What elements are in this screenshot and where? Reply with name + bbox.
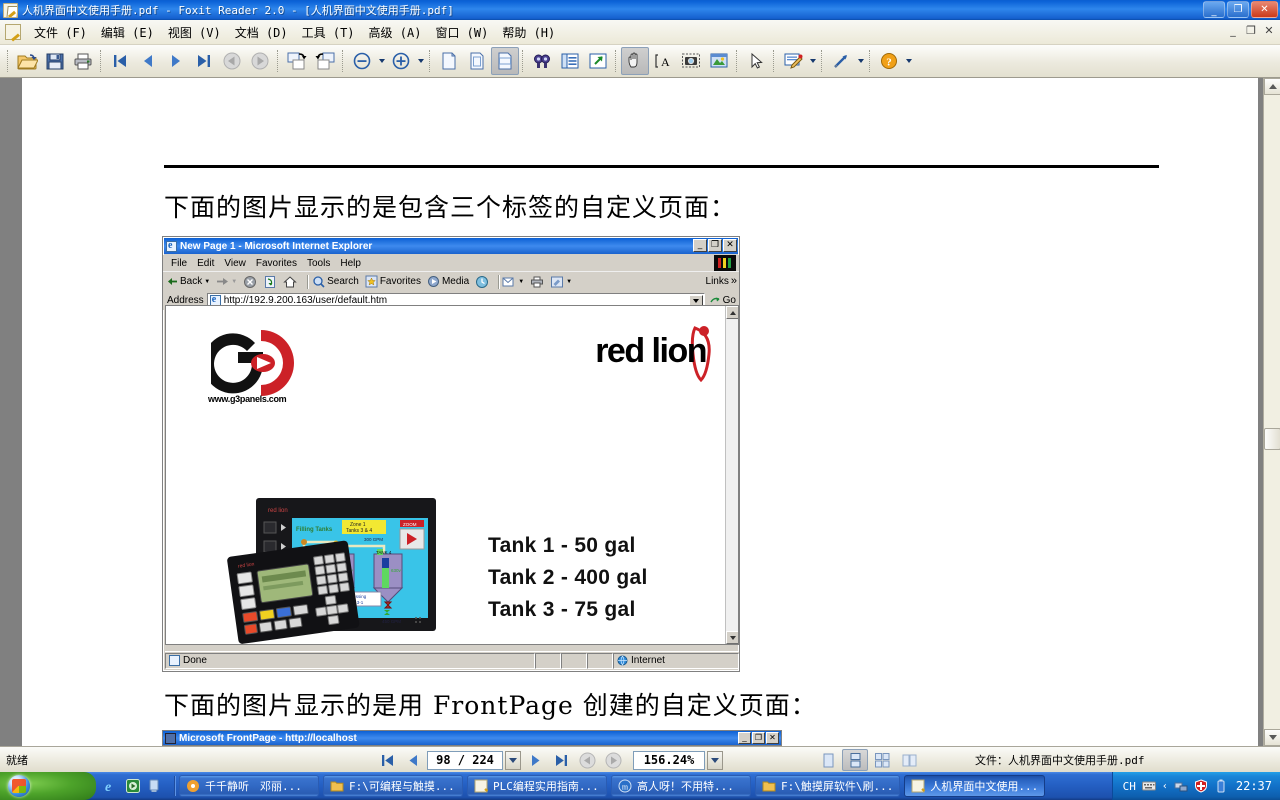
ie-page-content: www.g3panels.com red lion: [165, 305, 739, 645]
hand-tool-icon[interactable]: [621, 47, 649, 75]
rotate-counterclockwise-icon[interactable]: [311, 47, 339, 75]
ie-status-bar: Done Internet: [165, 651, 739, 669]
close-icon: ✕: [1252, 3, 1277, 17]
view-mode-group: [815, 749, 922, 771]
foxit-icon: [474, 779, 488, 793]
internet-explorer-icon[interactable]: e: [104, 778, 120, 794]
ie-title-bar: New Page 1 - Microsoft Internet Explorer…: [164, 238, 738, 254]
actual-size-icon[interactable]: [435, 47, 463, 75]
ie-links-bar[interactable]: Links »: [706, 275, 737, 287]
svg-text:300 GPM: 300 GPM: [364, 537, 383, 542]
ttplayer-icon: [186, 779, 200, 793]
ie-search-button[interactable]: Search: [312, 275, 359, 288]
hmi-product-photo: red lion Zone 1 Ta: [224, 496, 444, 645]
scroll-down-icon[interactable]: [1264, 729, 1280, 746]
svg-text:ZOOM: ZOOM: [403, 522, 417, 527]
ie-search-label: Search: [327, 276, 359, 287]
scroll-down-icon[interactable]: [726, 631, 739, 644]
ie-stop-button[interactable]: [243, 275, 257, 289]
first-page-icon[interactable]: [106, 47, 134, 75]
rotate-clockwise-icon[interactable]: [283, 47, 311, 75]
ie-back-dropdown-icon[interactable]: ▼: [204, 279, 210, 285]
status-file-label: 文件：人机界面中文使用手册.pdf: [975, 752, 1145, 768]
ie-status-cell-c: [587, 653, 613, 669]
keyboard-icon[interactable]: [1142, 779, 1156, 793]
menu-bar: 文件 (F) 编辑 (E) 视图 (V) 文档 (D) 工具 (T) 高级 (A…: [0, 20, 1280, 45]
network-icon[interactable]: [1174, 779, 1188, 793]
ie-links-label: Links: [706, 276, 729, 287]
taskbar-item-browser[interactable]: m 高人呀！不用特...: [611, 775, 751, 797]
toolbar-separator: [7, 50, 10, 72]
ie-media-button[interactable]: Media: [427, 275, 469, 288]
go-back-icon[interactable]: [575, 749, 599, 771]
horizontal-rule: [164, 165, 1159, 168]
frontpage-window-controls: _ ❐ ✕: [738, 732, 779, 744]
help-dropdown-icon[interactable]: [903, 48, 914, 74]
title-bar: 人机界面中文使用手册.pdf - Foxit Reader 2.0 - [人机界…: [0, 0, 1280, 20]
paragraph-line-2: 下面的图片显示的是用 FrontPage 创建的自定义页面：: [164, 686, 817, 722]
ie-menu-edit[interactable]: Edit: [197, 258, 214, 269]
globe-icon: [617, 655, 628, 666]
g3panels-url-text: www.g3panels.com: [208, 394, 286, 404]
taskbar-item-foxit-manual[interactable]: 人机界面中文使用...: [904, 775, 1045, 797]
commenting-icon[interactable]: [779, 47, 807, 75]
svg-text:e: e: [105, 780, 111, 794]
svg-text:red lion: red lion: [268, 508, 288, 514]
frontpage-window-title: Microsoft FrontPage - http://localhost: [179, 733, 357, 744]
menu-advanced[interactable]: 高级 (A): [362, 21, 429, 44]
bookmarks-icon[interactable]: [556, 47, 584, 75]
svg-text:630v: 630v: [391, 568, 402, 573]
ie-window-title: New Page 1 - Microsoft Internet Explorer: [180, 241, 372, 252]
frontpage-close-button[interactable]: ✕: [766, 732, 779, 744]
folder-icon: [330, 779, 344, 793]
single-page-icon[interactable]: [815, 749, 841, 771]
foxit-reader-window: 人机界面中文使用手册.pdf - Foxit Reader 2.0 - [人机界…: [0, 0, 1280, 800]
chevron-left-icon[interactable]: ‹: [1162, 781, 1168, 792]
frontpage-maximize-button[interactable]: ❐: [752, 732, 765, 744]
ie-forward-dropdown-icon[interactable]: ▼: [231, 279, 237, 285]
image-tool-icon[interactable]: [705, 47, 733, 75]
status-ready-text: 就绪: [6, 752, 28, 768]
ie-minimize-button[interactable]: _: [693, 239, 707, 252]
ie-status-cell-a: [535, 653, 561, 669]
frontpage-window-screenshot: Microsoft FrontPage - http://localhost _…: [162, 730, 782, 746]
first-page-icon[interactable]: [375, 749, 399, 771]
foxit-icon: [911, 779, 925, 793]
ime-indicator[interactable]: CH: [1123, 780, 1136, 793]
ie-close-button[interactable]: ✕: [723, 239, 737, 252]
ie-security-zone-cell: Internet: [613, 653, 739, 669]
go-forward-icon[interactable]: [601, 749, 625, 771]
taskbar-label: 高人呀！不用特...: [637, 778, 734, 794]
page-icon: [169, 655, 180, 666]
quick-launch-bar: e: [96, 778, 170, 794]
ie-maximize-button[interactable]: ❐: [708, 239, 722, 252]
tank-readings: Tank 1 - 50 gal Tank 2 - 400 gal Tank 3 …: [488, 530, 648, 626]
ie-menu-file[interactable]: File: [171, 258, 187, 269]
svg-text:?: ?: [886, 57, 892, 69]
previous-page-icon[interactable]: [134, 47, 162, 75]
maximize-button[interactable]: ❐: [1227, 1, 1249, 18]
ie-edit-dropdown-icon[interactable]: ▼: [566, 279, 572, 285]
taskbar-item-plc-guide[interactable]: PLC编程实用指南...: [467, 775, 607, 797]
tank-reading-3: Tank 3 - 75 gal: [488, 594, 648, 626]
ie-animated-logo-icon: [714, 255, 736, 271]
mdi-window-controls: _ ❐ ✕: [1226, 24, 1276, 37]
next-page-icon[interactable]: [162, 47, 190, 75]
ie-mail-button[interactable]: ▼: [502, 276, 524, 288]
last-page-icon[interactable]: [190, 47, 218, 75]
toolbar-separator: [342, 50, 345, 72]
svg-text:Filling Tanks: Filling Tanks: [296, 527, 333, 533]
tank-reading-1: Tank 1 - 50 gal: [488, 530, 648, 562]
taskbar-label: 人机界面中文使用...: [930, 778, 1038, 794]
minimize-button[interactable]: _: [1203, 1, 1225, 18]
shield-icon[interactable]: [1194, 779, 1208, 793]
ie-edit-button[interactable]: ▼: [550, 276, 572, 288]
red-lion-wordmark: red lion: [595, 332, 706, 371]
page-number-input[interactable]: 98 / 224: [427, 751, 503, 770]
print-icon[interactable]: [69, 47, 97, 75]
taskbar-label: 千千静听 邓丽...: [205, 778, 302, 794]
previous-page-icon[interactable]: [401, 749, 425, 771]
select-object-icon[interactable]: [742, 47, 770, 75]
open-icon[interactable]: [13, 47, 41, 75]
system-tray: CH ‹ 22:37: [1112, 772, 1280, 800]
battery-icon[interactable]: [1214, 779, 1228, 793]
window-title: 人机界面中文使用手册.pdf - Foxit Reader 2.0 - [人机界…: [22, 2, 454, 18]
ie-status-text: Done: [183, 655, 207, 666]
menu-tools[interactable]: 工具 (T): [295, 21, 362, 44]
pdf-page: 下面的图片显示的是包含三个标签的自定义页面： New Page 1 - Micr…: [22, 78, 1258, 746]
ie-status-cell-b: [561, 653, 587, 669]
tank-reading-2: Tank 2 - 400 gal: [488, 562, 648, 594]
windows-taskbar: e 千千静听 邓丽... F:\可编程与触摸... PLC编程实用指南... m…: [0, 772, 1280, 800]
ie-menu-tools[interactable]: Tools: [307, 258, 330, 269]
window-controls: _ ❐ ✕: [1203, 1, 1278, 18]
taskbar-separator: [174, 776, 175, 796]
ie-page-scrollbar[interactable]: [725, 306, 738, 644]
ie-window-controls: _ ❐ ✕: [693, 239, 737, 252]
save-icon[interactable]: [41, 47, 69, 75]
svg-text:TANK 4: TANK 4: [376, 550, 392, 555]
red-lion-logo: red lion: [595, 332, 706, 371]
ie-refresh-button[interactable]: [263, 275, 277, 289]
toolbar-separator: [736, 50, 739, 72]
internet-explorer-icon: [166, 241, 177, 252]
toolbar-separator: [615, 50, 618, 72]
ie-menu-bar: File Edit View Favorites Tools Help: [163, 255, 739, 271]
status-bar: 就绪 98 / 224 156.24%: [0, 746, 1280, 772]
foxit-icon: [3, 3, 18, 18]
main-toolbar: A: [0, 45, 1280, 78]
show-desktop-icon[interactable]: [146, 778, 162, 794]
g3panels-logo: [211, 324, 316, 402]
ie-media-label: Media: [442, 276, 469, 287]
document-vertical-scrollbar[interactable]: [1263, 78, 1280, 746]
maximize-icon: ❐: [1228, 3, 1248, 17]
zoom-in-icon[interactable]: [387, 47, 415, 75]
help-icon[interactable]: ?: [875, 47, 903, 75]
mdi-restore-icon[interactable]: ❐: [1244, 24, 1258, 37]
ie-window-screenshot: New Page 1 - Microsoft Internet Explorer…: [162, 236, 740, 672]
svg-text:A: A: [661, 55, 670, 69]
document-icon: [5, 24, 21, 40]
ie-menu-help[interactable]: Help: [340, 258, 361, 269]
svg-text:450 GPM: 450 GPM: [382, 619, 401, 624]
folder-icon: [762, 779, 776, 793]
document-view[interactable]: 下面的图片显示的是包含三个标签的自定义页面： New Page 1 - Micr…: [0, 78, 1280, 746]
menu-document[interactable]: 文档 (D): [228, 21, 295, 44]
menu-file[interactable]: 文件 (F): [27, 21, 94, 44]
zoom-in-dropdown-icon[interactable]: [415, 48, 426, 74]
paragraph-line-1: 下面的图片显示的是包含三个标签的自定义页面：: [164, 188, 736, 224]
zoom-out-icon[interactable]: [348, 47, 376, 75]
toolbar-separator: [869, 50, 872, 72]
go-forward-icon[interactable]: [246, 47, 274, 75]
ie-back-button[interactable]: Back ▼: [167, 276, 210, 287]
taskbar-label: F:\触摸屏软件\刷...: [781, 778, 893, 794]
taskbar-label: F:\可编程与触摸...: [349, 778, 455, 794]
facing-icon[interactable]: [869, 749, 895, 771]
find-icon[interactable]: [528, 47, 556, 75]
media-player-icon[interactable]: [125, 778, 141, 794]
snapshot-icon[interactable]: [677, 47, 705, 75]
toolbar-separator: [821, 50, 824, 72]
last-page-icon[interactable]: [549, 749, 573, 771]
toolbar-separator: [100, 50, 103, 72]
browser-icon: m: [618, 779, 632, 793]
ie-security-zone-text: Internet: [631, 655, 665, 666]
svg-text:Tanks 3 & 4: Tanks 3 & 4: [346, 528, 372, 534]
page-dropdown-icon[interactable]: [505, 751, 521, 770]
scroll-up-icon[interactable]: [726, 306, 739, 319]
frontpage-minimize-button[interactable]: _: [738, 732, 751, 744]
toolbar-separator: [277, 50, 280, 72]
ie-mail-dropdown-icon[interactable]: ▼: [518, 279, 524, 285]
toolbar-separator: [522, 50, 525, 72]
minimize-icon: _: [1204, 5, 1224, 19]
menu-window[interactable]: 窗口 (W): [428, 21, 495, 44]
zoom-out-dropdown-icon[interactable]: [376, 48, 387, 74]
ie-favorites-button[interactable]: Favorites: [365, 275, 421, 288]
zoom-level-input[interactable]: 156.24%: [633, 751, 705, 770]
select-text-icon[interactable]: A: [649, 47, 677, 75]
scroll-up-icon[interactable]: [1264, 78, 1280, 95]
ie-status-text-cell: Done: [165, 653, 535, 669]
svg-text:m: m: [622, 783, 629, 792]
page-navigation-group: 98 / 224 156.24%: [375, 749, 723, 771]
ie-print-button[interactable]: [530, 276, 544, 288]
chevron-double-right-icon[interactable]: »: [731, 275, 737, 287]
commenting-dropdown-icon[interactable]: [807, 48, 818, 74]
windows-logo-icon: [8, 775, 30, 797]
taskbar-item-folder-2[interactable]: F:\触摸屏软件\刷...: [755, 775, 900, 797]
taskbar-item-folder-1[interactable]: F:\可编程与触摸...: [323, 775, 463, 797]
mdi-close-icon[interactable]: ✕: [1262, 24, 1276, 37]
zoom-dropdown-icon[interactable]: [707, 751, 723, 770]
close-button[interactable]: ✕: [1251, 1, 1278, 18]
toolbar-separator: [429, 50, 432, 72]
ie-forward-button[interactable]: ▼: [216, 276, 237, 287]
link-icon[interactable]: [584, 47, 612, 75]
drawing-dropdown-icon[interactable]: [855, 48, 866, 74]
menu-edit[interactable]: 编辑 (E): [94, 21, 161, 44]
fit-page-icon[interactable]: [463, 47, 491, 75]
next-page-icon[interactable]: [523, 749, 547, 771]
continuous-facing-icon[interactable]: [896, 749, 922, 771]
ie-menu-favorites[interactable]: Favorites: [256, 258, 297, 269]
ie-home-button[interactable]: [283, 275, 297, 289]
menu-view[interactable]: 视图 (V): [161, 21, 228, 44]
scrollbar-thumb[interactable]: [1264, 428, 1280, 450]
ie-back-label: Back: [180, 276, 202, 287]
go-back-icon[interactable]: [218, 47, 246, 75]
toolbar-separator: [773, 50, 776, 72]
ie-favorites-label: Favorites: [380, 276, 421, 287]
fit-width-icon[interactable]: [491, 47, 519, 75]
taskbar-clock[interactable]: 22:37: [1236, 779, 1272, 793]
mdi-minimize-icon[interactable]: _: [1226, 24, 1240, 37]
taskbar-item-ttplayer[interactable]: 千千静听 邓丽...: [179, 775, 319, 797]
ie-menu-view[interactable]: View: [224, 258, 246, 269]
start-button[interactable]: [0, 772, 96, 800]
frontpage-title-bar: Microsoft FrontPage - http://localhost _…: [163, 731, 781, 745]
ie-history-button[interactable]: [475, 275, 489, 289]
taskbar-label: PLC编程实用指南...: [493, 778, 599, 794]
ie-toolbar: Back ▼ ▼: [163, 271, 739, 291]
menu-help[interactable]: 帮助 (H): [495, 21, 562, 44]
drawing-icon[interactable]: [827, 47, 855, 75]
continuous-icon[interactable]: [842, 749, 868, 771]
frontpage-icon: [165, 733, 176, 744]
